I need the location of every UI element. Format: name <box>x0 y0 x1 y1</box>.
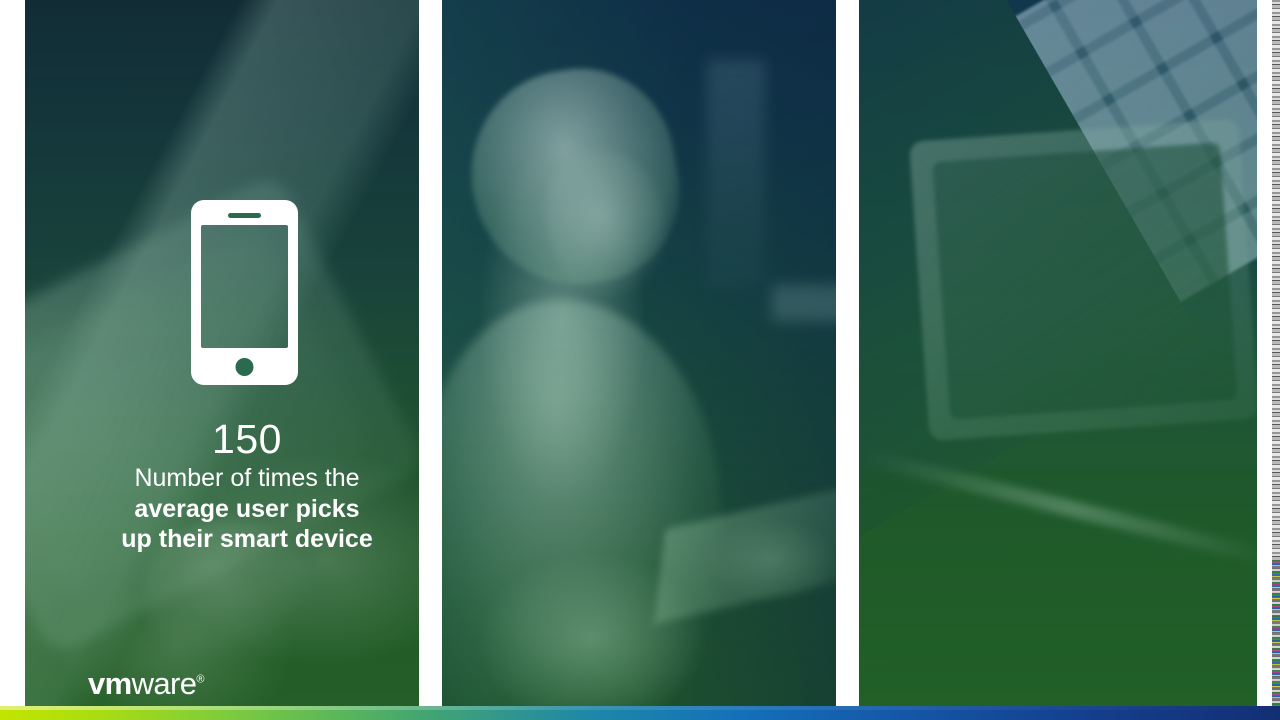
stat-number-150: 150 <box>50 418 419 461</box>
panel-task-deferral: Studies show users will put off a task i… <box>859 0 1257 706</box>
video-progress-bar[interactable] <box>0 706 1280 720</box>
panel-smart-device-pickups: 150 Number of times the average user pic… <box>25 0 419 706</box>
left-caption-line-2: average user picks <box>50 494 419 525</box>
vmware-logo-ware: ware <box>132 666 197 701</box>
panel-moment-duration: Moments last less than 72 secs. <box>442 0 836 706</box>
progress-bar-highlight <box>0 706 1280 710</box>
left-caption-line-3: up their smart device <box>50 524 419 555</box>
right-edge-artifact-strip-lower <box>1272 560 1280 706</box>
vmware-logo: vmware® <box>88 668 204 699</box>
left-panel-text: 150 Number of times the average user pic… <box>50 418 419 555</box>
vmware-logo-vm: vm <box>88 666 132 701</box>
registered-trademark-icon: ® <box>196 674 204 686</box>
slide-canvas: 150 Number of times the average user pic… <box>0 0 1280 720</box>
smartphone-icon <box>191 200 298 385</box>
left-caption-line-1: Number of times the <box>50 463 419 494</box>
